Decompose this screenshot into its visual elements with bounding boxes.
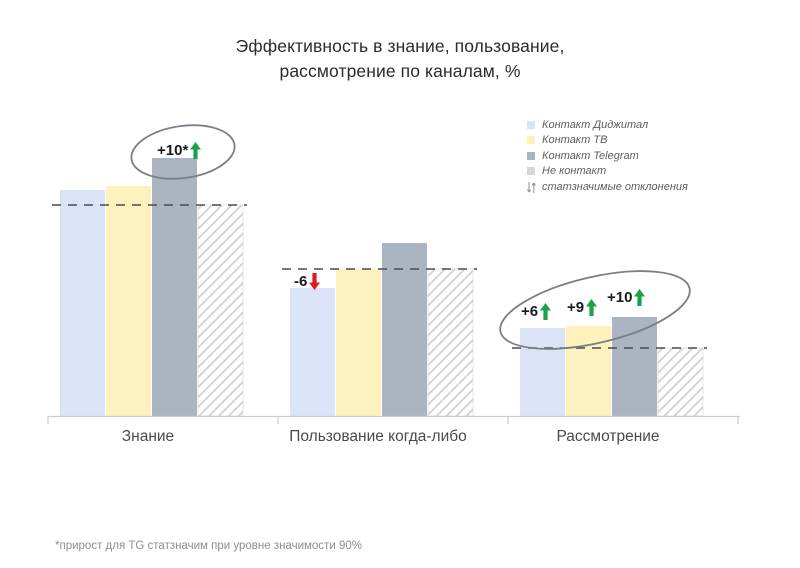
legend-item: статзначимые отклонения [527, 179, 777, 195]
annotation-value: -6 [294, 273, 307, 290]
legend-item-label: Контакт Диджитал [542, 119, 648, 131]
legend-swatch-icon [527, 167, 535, 175]
bar-polzovanie-tv [336, 269, 381, 416]
legend-item-label: статзначимые отклонения [542, 181, 688, 193]
legend-item-label: Не контакт [542, 165, 606, 177]
bar-polzovanie-nekontakt [428, 269, 473, 416]
annotation-value: +10 [607, 289, 632, 306]
bar-polzovanie-telegram [382, 243, 427, 416]
legend-item: Контакт Telegram [527, 148, 777, 164]
annotation-value: +6 [521, 303, 538, 320]
legend-item: Контакт Диджитал [527, 117, 777, 133]
arrow-down-icon [308, 272, 321, 291]
bar-polzovanie-digital [290, 288, 335, 416]
annotation-rassmotrenie-telegram: +10 [607, 288, 646, 307]
annotation-value: +10* [157, 142, 188, 159]
decorative-arc [470, 0, 800, 16]
legend-swatch-icon [527, 121, 535, 129]
bar-znanie-digital [60, 190, 105, 416]
chart-plot-area [0, 0, 800, 568]
legend-swatch-icon [527, 136, 535, 144]
legend-swatch-icon [527, 152, 535, 160]
title-line-1: Эффективность в знание, пользование, [0, 34, 800, 59]
bar-rassmotrenie-tv [566, 326, 611, 416]
arrow-up-icon [189, 141, 202, 160]
legend-item: Не контакт [527, 164, 777, 180]
legend-item-label: Контакт Telegram [542, 150, 639, 162]
annotation-value: +9 [567, 299, 584, 316]
up-down-arrows-icon [527, 181, 535, 193]
footnote: *прирост для TG статзначим при уровне зн… [55, 540, 362, 552]
bar-znanie-tv [106, 186, 151, 416]
bar-znanie-nekontakt [198, 205, 243, 416]
arrow-up-icon [633, 288, 646, 307]
arrow-up-icon [539, 302, 552, 321]
annotation-znanie-telegram: +10* [157, 141, 202, 160]
legend-item-label: Контакт ТВ [542, 134, 607, 146]
category-label-polzovanie: Пользование когда-либо [278, 428, 478, 446]
annotation-rassmotrenie-digital: +6 [521, 302, 552, 321]
page-title: Эффективность в знание, пользование, рас… [0, 34, 800, 84]
bar-rassmotrenie-digital [520, 328, 565, 416]
title-line-2: рассмотрение по каналам, % [0, 59, 800, 84]
annotation-rassmotrenie-tv: +9 [567, 298, 598, 317]
bar-znanie-telegram [152, 158, 197, 416]
chart-legend: Контакт Диджитал Контакт ТВ Контакт Tele… [527, 117, 777, 195]
annotation-polzovanie-digital: -6 [294, 272, 321, 291]
bar-rassmotrenie-nekontakt [658, 348, 703, 416]
bar-rassmotrenie-telegram [612, 317, 657, 416]
slide-canvas: Эффективность в знание, пользование, рас… [0, 0, 800, 568]
category-label-rassmotrenie: Рассмотрение [508, 428, 708, 446]
category-label-znanie: Знание [48, 428, 248, 446]
arrow-up-icon [585, 298, 598, 317]
legend-item: Контакт ТВ [527, 133, 777, 149]
